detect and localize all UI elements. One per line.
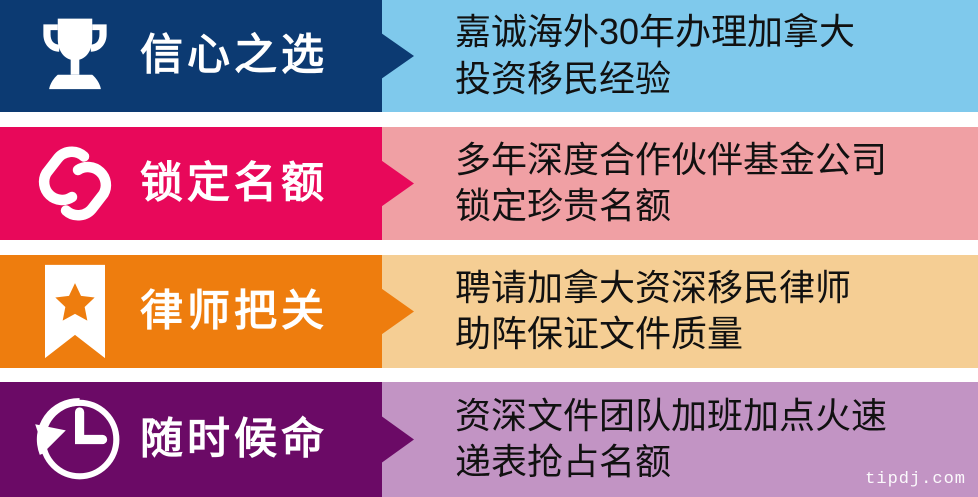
row-body-text: 多年深度合作伙伴基金公司 锁定珍贵名额	[455, 137, 887, 231]
body-line-2: 锁定珍贵名额	[455, 184, 887, 231]
bookmark-star-icon	[18, 255, 132, 368]
feature-row-standby: 随时候命 资深文件团队加班加点火速 递表抢占名额 tipdj.com	[0, 382, 978, 497]
body-line-1: 资深文件团队加班加点火速	[455, 393, 887, 440]
row-dark-arrow-block: 锁定名额	[0, 127, 414, 240]
row-dark-arrow-block: 律师把关	[0, 255, 414, 368]
row-dark-arrow-block: 随时候命	[0, 382, 414, 497]
row-body-text: 资深文件团队加班加点火速 递表抢占名额	[455, 393, 887, 487]
trophy-icon	[18, 0, 132, 112]
body-line-1: 嘉诚海外30年办理加拿大	[455, 9, 855, 56]
row-label: 信心之选	[140, 35, 328, 78]
body-line-2: 助阵保证文件质量	[455, 312, 851, 359]
row-label: 随时候命	[140, 418, 328, 461]
row-body-text: 聘请加拿大资深移民律师 助阵保证文件质量	[455, 265, 851, 359]
row-label: 律师把关	[140, 290, 328, 333]
body-line-1: 多年深度合作伙伴基金公司	[455, 137, 887, 184]
watermark-text: tipdj.com	[865, 470, 966, 489]
body-line-1: 聘请加拿大资深移民律师	[455, 265, 851, 312]
body-line-2: 投资移民经验	[455, 56, 855, 103]
row-label: 锁定名额	[140, 162, 328, 205]
feature-row-confidence: 信心之选 嘉诚海外30年办理加拿大 投资移民经验	[0, 0, 978, 112]
body-line-2: 递表抢占名额	[455, 440, 887, 487]
clock-rotate-icon	[18, 382, 132, 497]
row-body-text: 嘉诚海外30年办理加拿大 投资移民经验	[455, 9, 855, 103]
chain-link-icon	[18, 127, 132, 240]
row-dark-arrow-block: 信心之选	[0, 0, 414, 112]
feature-row-lawyer: 律师把关 聘请加拿大资深移民律师 助阵保证文件质量	[0, 255, 978, 368]
feature-row-lock-quota: 锁定名额 多年深度合作伙伴基金公司 锁定珍贵名额	[0, 127, 978, 240]
infographic-panel: 信心之选 嘉诚海外30年办理加拿大 投资移民经验 锁定名额 多年深度合作伙伴基金…	[0, 0, 978, 497]
